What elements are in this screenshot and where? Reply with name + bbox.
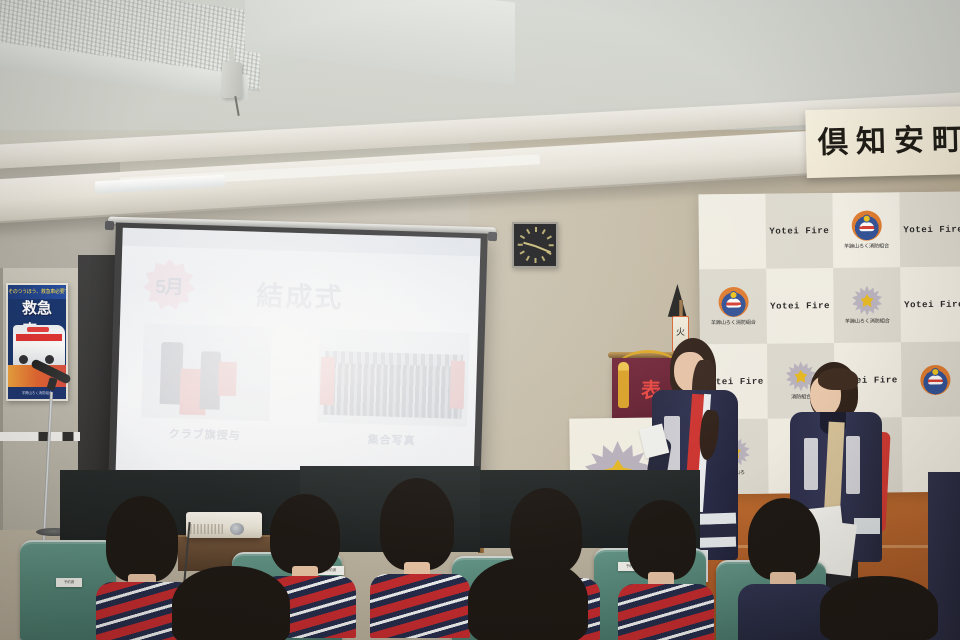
slide-banner-right (450, 361, 465, 409)
slide-photo-left (141, 323, 272, 421)
projector-vent (190, 524, 224, 534)
banner-char-3: 安 (894, 126, 925, 157)
wall-strip (0, 432, 80, 441)
backdrop-org-name: 羊蹄山ろく消防組合 (845, 317, 890, 324)
presenter-2-cuff-right (854, 518, 880, 534)
backdrop-cell: 羊蹄山ろく消防組合 (833, 267, 901, 343)
student-front-1 (172, 566, 292, 640)
fire-star-emblem-icon (852, 285, 882, 315)
poster-headline: 救急車!? (8, 298, 66, 320)
student-front-2-hair (468, 558, 588, 640)
clock-tick (526, 229, 530, 234)
student-1-hair (106, 496, 178, 582)
banner-char-4: 町 (932, 125, 960, 156)
kutchan-calligraphy-banner: 倶 知 安 町 少 (805, 106, 960, 178)
screen-bar-cap-right (488, 232, 497, 241)
yotei-round-emblem-icon (920, 364, 950, 394)
wall-clock (512, 222, 558, 268)
yotei-round-emblem-icon (718, 287, 748, 317)
slide-top-band (122, 228, 480, 257)
backdrop-org-name: 羊蹄山ろく消防組合 (711, 319, 756, 326)
student-5 (626, 500, 706, 640)
student-6-hair (748, 498, 820, 580)
banner-char-1: 倶 (818, 128, 849, 159)
clock-tick (535, 258, 537, 263)
slide-title: 結成式 (120, 270, 479, 320)
student-5-hair (628, 500, 696, 580)
backdrop-cell: Yotei Fire (899, 192, 960, 268)
student-front-3-hair (820, 576, 938, 640)
slide-caption-left: クラブ旗授与 (141, 424, 269, 444)
backdrop-brand-text: Yotei Fire (903, 224, 960, 235)
student-front-3 (820, 576, 940, 640)
backdrop-cell (901, 342, 960, 418)
clock-tick (542, 256, 546, 261)
projector (186, 512, 262, 538)
student-3 (378, 478, 462, 640)
flag-tassel-left (618, 362, 629, 408)
clock-tick (535, 227, 537, 232)
presenter-2-coat-lettering-left (804, 438, 818, 490)
backdrop-brand-text: Yotei Fire (770, 301, 830, 312)
student-front-2 (468, 558, 590, 640)
backdrop-cell (698, 194, 766, 270)
screen-surface: 5月 結成式 クラブ旗授与 集合写真 (115, 228, 480, 487)
backdrop-cell: Yotei Fire (765, 193, 833, 269)
wall-speaker (222, 62, 242, 98)
slide-caption-right: 集合写真 (316, 430, 466, 450)
student-5-uniform-jacket (618, 584, 714, 640)
projection-screen: 5月 結成式 クラブ旗授与 集合写真 (108, 223, 488, 496)
ambulance-lightbar-icon (27, 327, 49, 332)
clock-tick (518, 244, 523, 246)
presentation-slide: 5月 結成式 クラブ旗授与 集合写真 (115, 228, 480, 487)
backdrop-cell: Yotei Fire (766, 268, 834, 344)
backdrop-org-name: 羊蹄山ろく消防組合 (844, 242, 889, 249)
screen-bar-cap-left (105, 221, 114, 230)
clock-tick (547, 235, 552, 239)
clock-tick (549, 244, 554, 246)
backdrop-brand-text: Yotei Fire (769, 226, 829, 237)
ambulance-poster: そのつうほう、救急車必要ですか 救急車!? 羊蹄山ろく消防組合 (6, 283, 68, 401)
clock-tick (526, 256, 530, 261)
student-6 (744, 498, 828, 640)
presentation-room-photo: そのつうほう、救急車必要ですか 救急車!? 羊蹄山ろく消防組合 5月 結成式 (0, 0, 960, 640)
yotei-round-emblem-icon (851, 210, 881, 240)
poster-kicker: そのつうほう、救急車必要ですか (8, 285, 66, 299)
clock-tick (520, 235, 525, 239)
backdrop-brand-text: Yotei Fire (904, 299, 960, 310)
clock-minute-hand (535, 245, 551, 253)
student-3-uniform-jacket (370, 574, 470, 638)
presenter-2-bangs (818, 368, 858, 390)
slide-photo-right (317, 329, 470, 427)
student-front-1-hair (172, 566, 290, 640)
poster-footer: 羊蹄山ろく消防組合 (8, 387, 66, 399)
student-3-hair (380, 478, 454, 570)
chair-label: 予約席 (56, 578, 82, 587)
student-2-hair (270, 494, 340, 574)
backdrop-cell: Yotei Fire (900, 267, 960, 343)
presenter-2-coat-lettering-right (846, 436, 860, 494)
backdrop-cell: 羊蹄山ろく消防組合 (832, 192, 900, 268)
slide-banner-left (320, 357, 335, 405)
clock-tick (520, 251, 525, 255)
clock-tick (542, 229, 546, 234)
banner-char-2: 知 (856, 127, 887, 158)
slide-flag-red-2 (218, 362, 237, 397)
slide-crowd-front-rows (323, 363, 462, 419)
backdrop-cell: 羊蹄山ろく消防組合 (699, 269, 767, 345)
